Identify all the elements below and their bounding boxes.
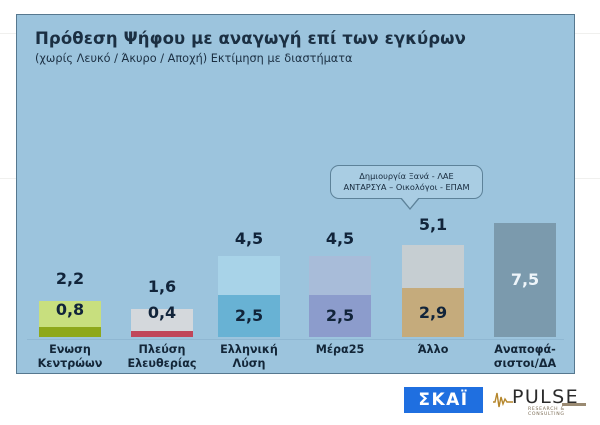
category-label-2: Ελληνική Λύση (204, 343, 294, 371)
bar-upper-segment-2 (218, 256, 280, 295)
category-label-1: Πλεύση Ελευθερίας (117, 343, 207, 371)
bar-group-1[interactable]: 1,6 0,4 Πλεύση Ελευθερίας (117, 13, 207, 373)
pulse-tagline: RESEARCH & CONSULTING (528, 407, 592, 417)
category-label-5-line2: σιστοι/ΔΑ (480, 357, 570, 371)
bar-lower-segment-0 (39, 327, 101, 337)
allo-parties-callout: Δημιουργία Ξανά - ΛΑΕ ΑΝΤΑΡΣΥΑ – Οικολόγ… (330, 165, 483, 199)
bar-group-5[interactable]: 7,5 Αναποφά- σιστοι/ΔΑ (480, 13, 570, 373)
bar-solid-segment-5: 7,5 (494, 223, 556, 337)
bar-lower-value-3: 2,5 (326, 308, 354, 324)
bar-upper-value-0: 2,2 (56, 271, 84, 287)
bar-group-0[interactable]: 2,2 0,8 Ενωση Κεντρώων (25, 13, 115, 373)
pulse-wave-icon (492, 388, 514, 410)
bar-upper-value-2: 4,5 (235, 231, 263, 247)
pulse-logo: PULSE RESEARCH & CONSULTING (492, 385, 592, 417)
skai-logo-text: ΣΚΑΪ (418, 390, 468, 410)
bar-upper-segment-3 (309, 256, 371, 295)
category-label-1-line1: Πλεύση (117, 343, 207, 357)
bar-upper-value-4: 5,1 (419, 217, 447, 233)
callout-line-2: ΑΝΤΑΡΣΥΑ – Οικολόγοι - ΕΠΑΜ (335, 182, 478, 193)
category-label-2-line2: Λύση (204, 357, 294, 371)
bar-lower-segment-1 (131, 331, 193, 337)
bar-stack-5: 7,5 (494, 223, 556, 337)
category-label-0: Ενωση Κεντρώων (25, 343, 115, 371)
bar-stack-3: 2,5 (309, 256, 371, 337)
category-label-0-line1: Ενωση (25, 343, 115, 357)
category-label-4-line1: Άλλο (388, 343, 478, 357)
category-label-3: Μέρα25 (295, 343, 385, 357)
bar-lower-value-1: 0,4 (148, 305, 176, 321)
category-label-1-line2: Ελευθερίας (117, 357, 207, 371)
callout-tail (401, 197, 419, 208)
bar-lower-segment-3: 2,5 (309, 295, 371, 337)
bar-stack-4: 2,9 (402, 245, 464, 337)
bar-stack-2: 2,5 (218, 256, 280, 337)
skai-logo: ΣΚΑΪ (404, 387, 483, 413)
category-label-3-line1: Μέρα25 (295, 343, 385, 357)
category-label-4: Άλλο (388, 343, 478, 357)
category-label-5-line1: Αναποφά- (480, 343, 570, 357)
bar-lower-segment-4: 2,9 (402, 288, 464, 337)
bar-upper-value-3: 4,5 (326, 231, 354, 247)
bar-lower-segment-2: 2,5 (218, 295, 280, 337)
category-label-2-line1: Ελληνική (204, 343, 294, 357)
footer-logos: ΣΚΑΪ PULSE RESEARCH & CONSULTING (0, 381, 600, 425)
bar-lower-value-2: 2,5 (235, 308, 263, 324)
category-label-0-line2: Κεντρώων (25, 357, 115, 371)
category-label-5: Αναποφά- σιστοι/ΔΑ (480, 343, 570, 371)
callout-line-1: Δημιουργία Ξανά - ΛΑΕ (335, 171, 478, 182)
bar-upper-segment-4 (402, 245, 464, 288)
plot-area: 2,2 0,8 Ενωση Κεντρώων 1,6 0,4 Πλεύση Ελ… (17, 15, 574, 373)
pulse-logo-rule (562, 403, 586, 406)
bar-group-2[interactable]: 4,5 2,5 Ελληνική Λύση (204, 13, 294, 373)
bar-lower-value-4: 2,9 (419, 305, 447, 321)
chart-panel: Πρόθεση Ψήφου με αναγωγή επί των εγκύρων… (16, 14, 575, 374)
bar-upper-value-1: 1,6 (148, 279, 176, 295)
bar-value-5: 7,5 (511, 272, 539, 288)
bar-lower-value-0: 0,8 (56, 302, 84, 318)
